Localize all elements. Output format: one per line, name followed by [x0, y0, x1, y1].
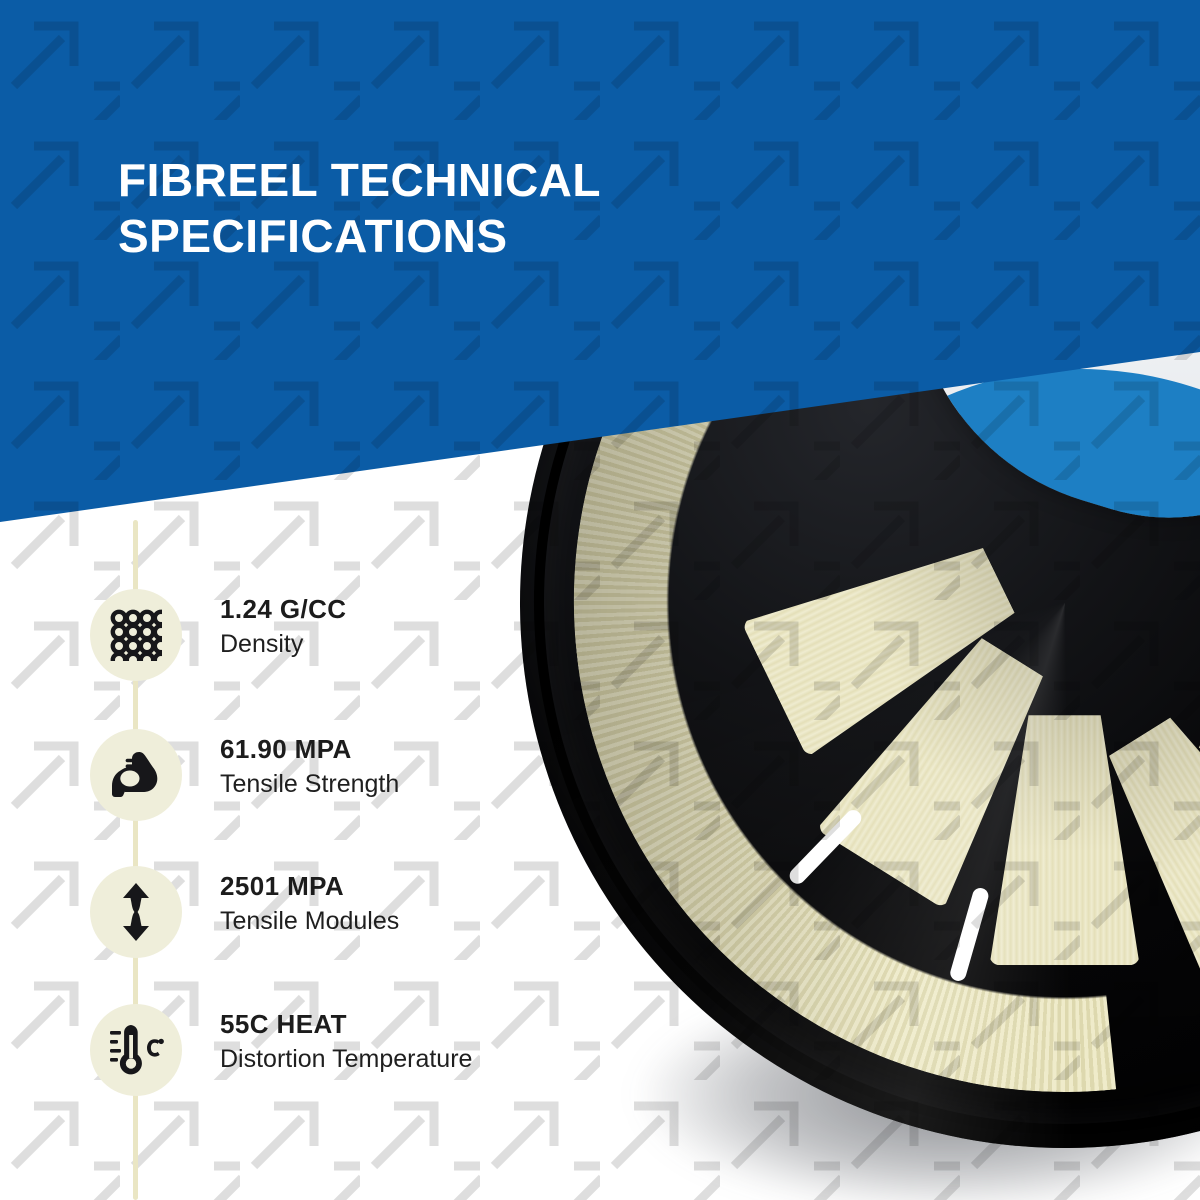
tensile-modules-value: 2501 MPA — [220, 872, 640, 902]
tensile-strength-text-block: 61.90 MPA Tensile Strength — [220, 735, 640, 800]
tensile-strength-icon-bubble — [90, 729, 182, 821]
density-icon-bubble — [90, 589, 182, 681]
distortion-temperature-text-block: 55C HEAT Distortion Temperature — [220, 1010, 640, 1075]
vertical-double-arrow-icon — [116, 883, 156, 941]
distortion-temperature-label: Distortion Temperature — [220, 1043, 640, 1076]
molecular-grid-icon — [110, 609, 162, 661]
flexed-bicep-icon — [109, 750, 163, 800]
spec-item-tensile-modules: 2501 MPA Tensile Modules — [90, 866, 630, 958]
spec-item-distortion-temperature: 55C HEAT Distortion Temperature — [90, 1004, 630, 1096]
tensile-modules-icon-bubble — [90, 866, 182, 958]
thermometer-celsius-icon — [108, 1023, 164, 1077]
density-label: Density — [220, 628, 640, 661]
spec-item-density: 1.24 G/CC Density — [90, 589, 630, 681]
infographic-canvas: FIBREEL WWW.FIBREEL.CO 1000 g 900 g 666 … — [0, 0, 1200, 1200]
density-text-block: 1.24 G/CC Density — [220, 595, 640, 660]
distortion-temperature-value: 55C HEAT — [220, 1010, 640, 1040]
tensile-modules-label: Tensile Modules — [220, 905, 640, 938]
spec-item-tensile-strength: 61.90 MPA Tensile Strength — [90, 729, 630, 821]
distortion-temperature-icon-bubble — [90, 1004, 182, 1096]
tensile-strength-label: Tensile Strength — [220, 768, 640, 801]
tensile-modules-text-block: 2501 MPA Tensile Modules — [220, 872, 640, 937]
tensile-strength-value: 61.90 MPA — [220, 735, 640, 765]
specifications-list: 1.24 G/CC Density 61.90 MPA Tensile Stre… — [0, 0, 620, 1200]
density-value: 1.24 G/CC — [220, 595, 640, 625]
